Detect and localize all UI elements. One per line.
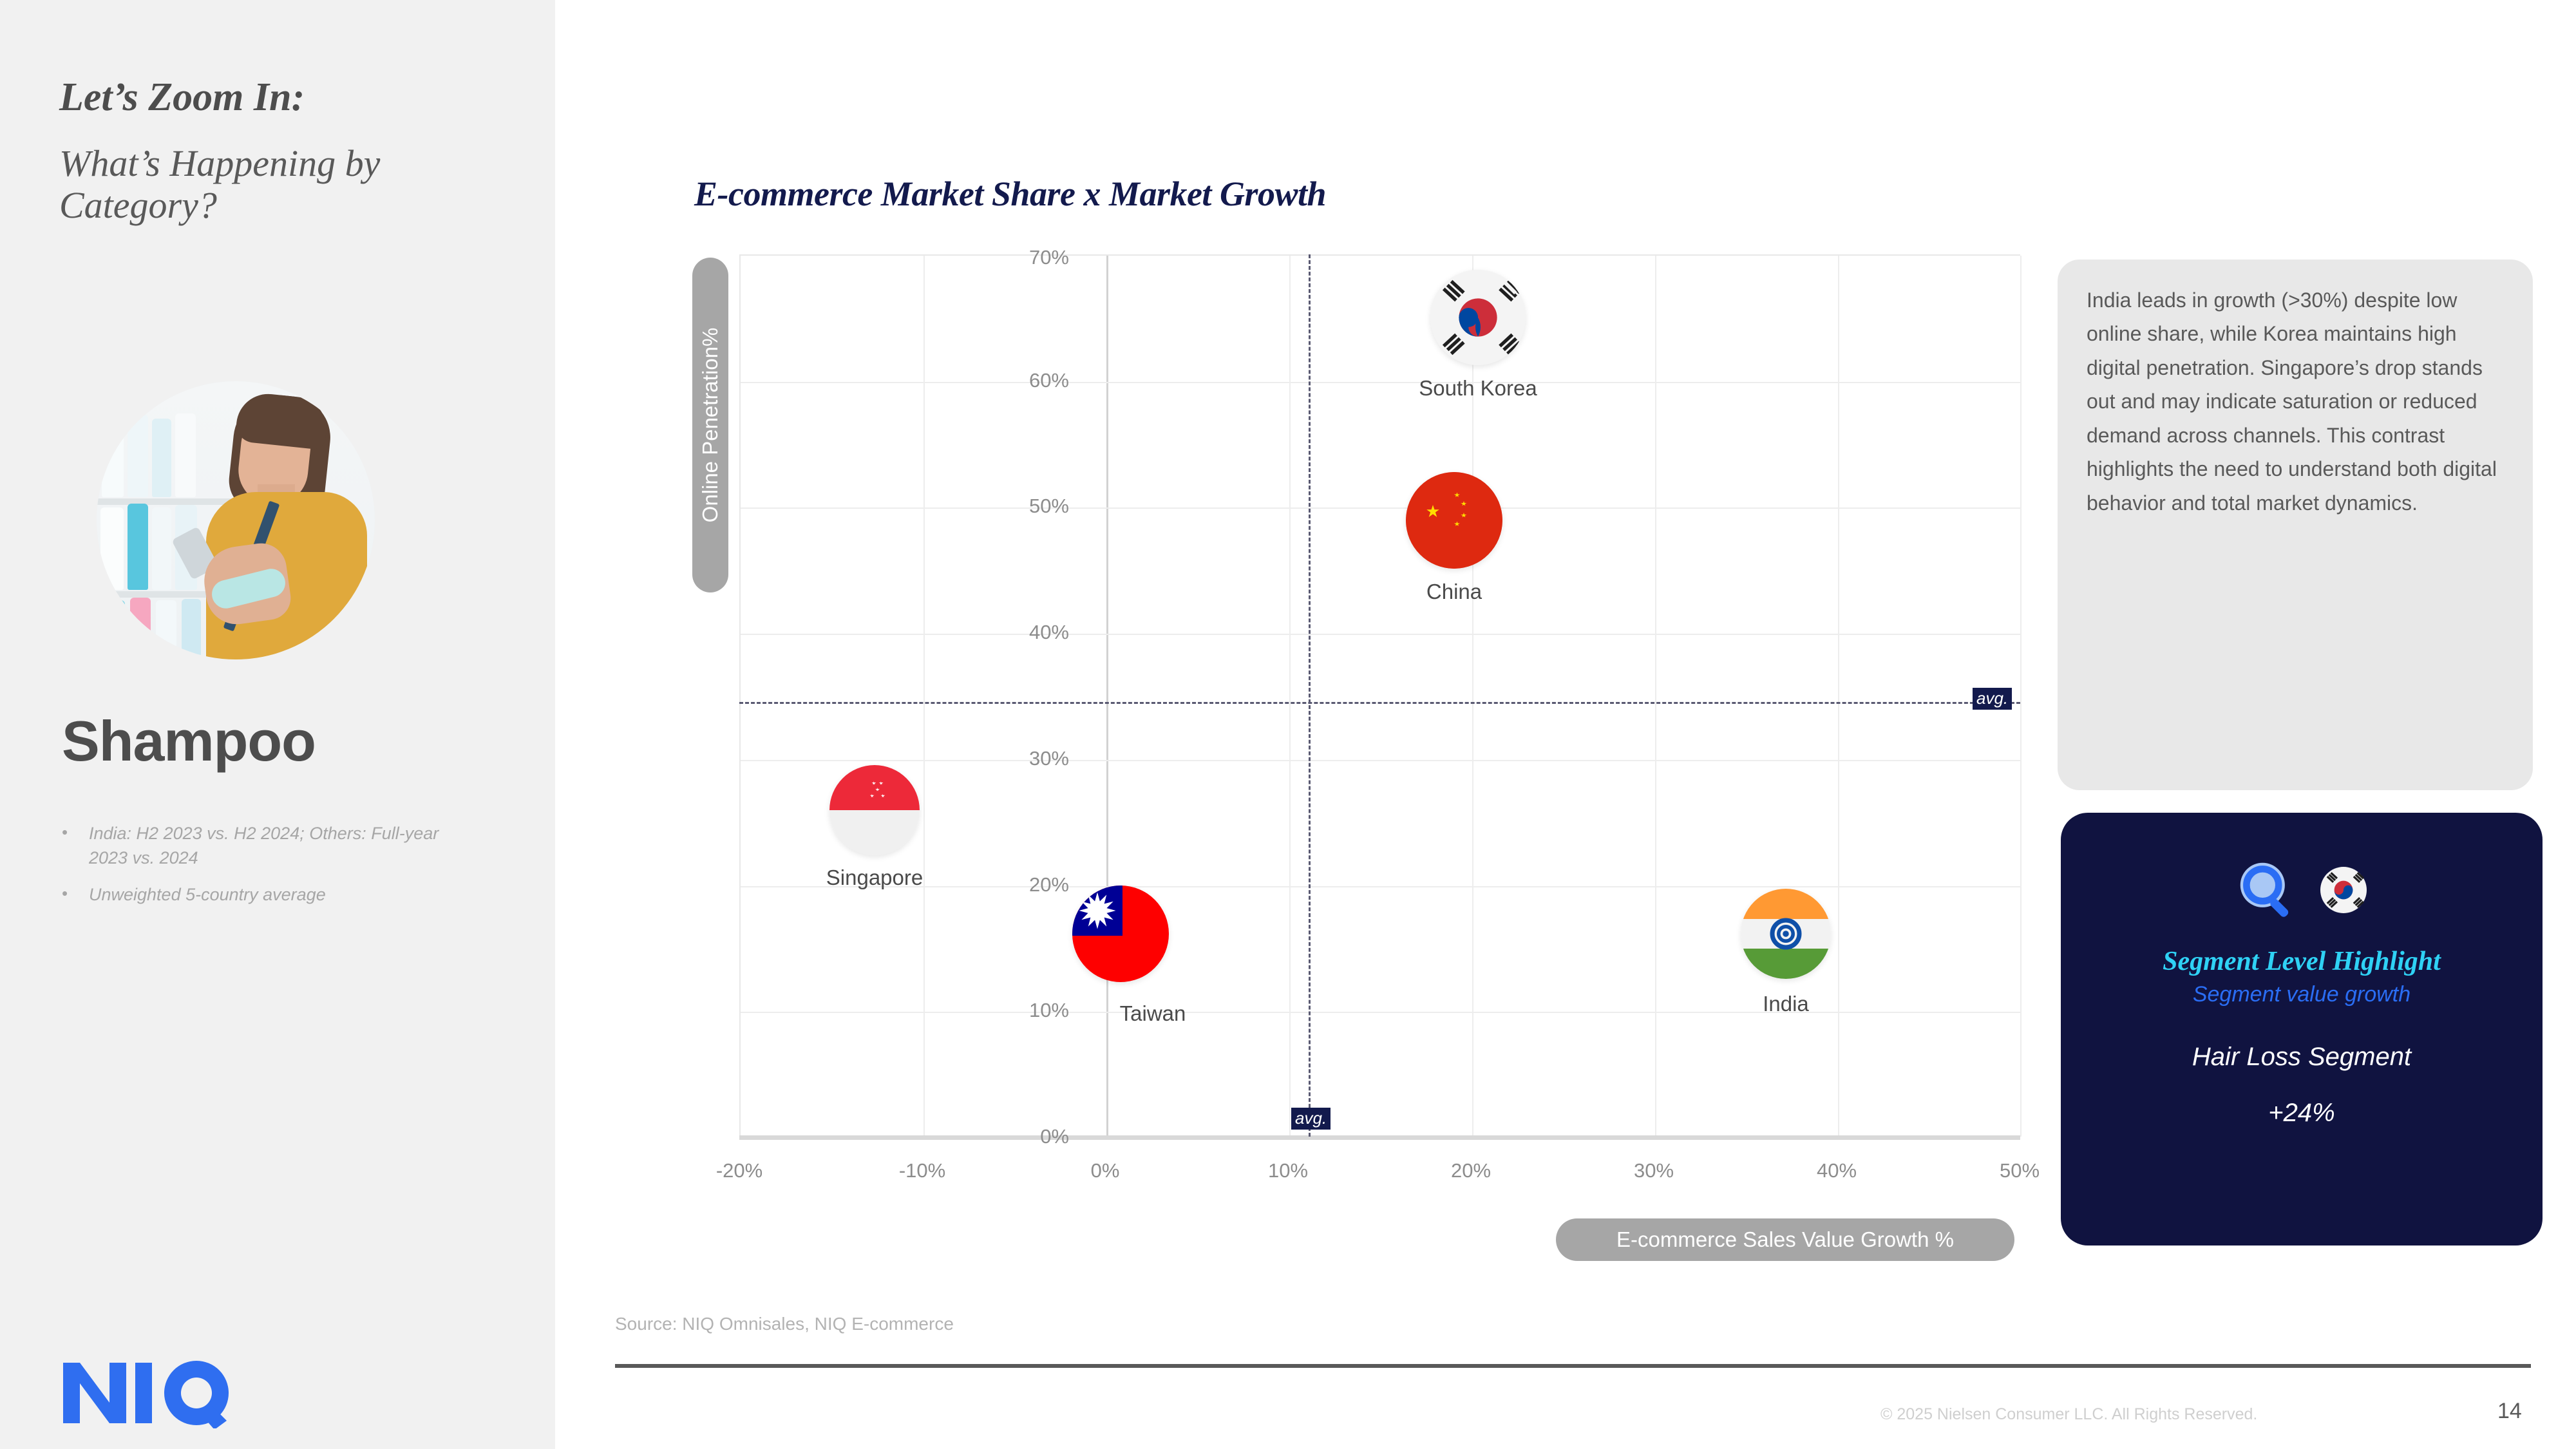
avg-line-vertical <box>1309 254 1311 1137</box>
avg-line-horizontal <box>739 702 2020 704</box>
gridline-horizontal <box>741 634 2020 635</box>
x-tick-label: -20% <box>675 1159 804 1182</box>
data-point-south-korea[interactable] <box>1430 270 1526 365</box>
avg-label-vertical: avg. <box>1291 1108 1331 1130</box>
y-tick-label: 60% <box>972 369 1069 392</box>
data-point-label: China <box>1426 580 1482 604</box>
sidebar-notes: • India: H2 2023 vs. H2 2024; Others: Fu… <box>62 821 480 918</box>
x-tick-label: 10% <box>1224 1159 1352 1182</box>
page-number: 14 <box>2497 1399 2522 1424</box>
note-text: Unweighted 5-country average <box>89 882 480 907</box>
data-point-label: India <box>1763 992 1809 1016</box>
data-point-label: Singapore <box>826 866 923 890</box>
gridline-vertical <box>1838 256 1839 1137</box>
y-tick-label: 70% <box>972 246 1069 269</box>
y-tick-label: 30% <box>972 747 1069 770</box>
data-point-china[interactable] <box>1406 472 1502 569</box>
axis-zero-line <box>1106 256 1108 1137</box>
copyright-note: © 2025 Nielsen Consumer LLC. All Rights … <box>1880 1405 2257 1424</box>
x-tick-label: -10% <box>858 1159 987 1182</box>
south-korea-flag-icon <box>2320 867 2367 916</box>
gridline-horizontal <box>741 1012 2020 1013</box>
page-title: Shampoo <box>62 708 316 774</box>
data-point-india[interactable] <box>1741 889 1831 979</box>
data-point-taiwan[interactable] <box>1072 885 1169 982</box>
x-tick-label: 0% <box>1041 1159 1170 1182</box>
data-point-singapore[interactable] <box>829 765 920 855</box>
avg-label-horizontal: avg. <box>1973 688 2012 710</box>
sidebar-subtitle: What’s Happening by Category? <box>59 143 504 227</box>
gridline-horizontal <box>741 507 2020 509</box>
y-tick-label: 0% <box>972 1125 1069 1148</box>
note-text: India: H2 2023 vs. H2 2024; Others: Full… <box>89 821 480 871</box>
note-item: • India: H2 2023 vs. H2 2024; Others: Fu… <box>62 821 480 871</box>
bullet-glyph: • <box>62 882 89 907</box>
niq-logo <box>59 1358 233 1428</box>
sidebar-title: Let’s Zoom In: <box>59 77 510 118</box>
x-tick-label: 30% <box>1589 1159 1718 1182</box>
left-sidebar: Let’s Zoom In: What’s Happening by Categ… <box>0 0 555 1449</box>
x-axis-title-label: E-commerce Sales Value Growth % <box>1616 1227 1954 1252</box>
y-tick-label: 20% <box>972 873 1069 896</box>
highlight-value: +24% <box>2268 1099 2334 1128</box>
y-tick-label: 40% <box>972 621 1069 644</box>
data-point-label: Taiwan <box>1120 1001 1186 1026</box>
category-photo <box>97 381 375 659</box>
y-tick-label: 50% <box>972 495 1069 518</box>
y-axis-title: Online Penetration% <box>692 258 728 592</box>
gridline-vertical <box>1289 256 1291 1137</box>
highlight-segment-name: Hair Loss Segment <box>2192 1041 2411 1073</box>
gridline-vertical <box>2020 256 2022 1137</box>
data-point-label: South Korea <box>1419 376 1537 401</box>
segment-highlight-card: Segment Level Highlight Segment value gr… <box>2061 813 2543 1245</box>
insight-text: India leads in growth (>30%) despite low… <box>2087 283 2505 520</box>
gridline-horizontal <box>741 382 2020 383</box>
gridline-vertical <box>923 256 925 1137</box>
bullet-glyph: • <box>62 821 89 871</box>
footer-divider <box>615 1364 2531 1368</box>
gridline-horizontal <box>741 760 2020 761</box>
chart-title: E-commerce Market Share x Market Growth <box>694 174 1326 214</box>
highlight-title: Segment Level Highlight <box>2163 946 2441 977</box>
highlight-icons <box>2237 859 2367 924</box>
note-item: • Unweighted 5-country average <box>62 882 480 907</box>
y-axis-title-label: Online Penetration% <box>698 328 723 523</box>
source-note: Source: NIQ Omnisales, NIQ E-commerce <box>615 1314 954 1334</box>
y-tick-label: 10% <box>972 999 1069 1022</box>
magnifier-icon <box>2237 859 2298 924</box>
x-tick-label: 20% <box>1406 1159 1535 1182</box>
gridline-vertical <box>1655 256 1656 1137</box>
gridline-horizontal <box>741 886 2020 887</box>
x-axis-title: E-commerce Sales Value Growth % <box>1556 1218 2014 1261</box>
x-axis-line <box>739 1135 2020 1140</box>
x-tick-label: 40% <box>1772 1159 1901 1182</box>
highlight-subtitle: Segment value growth <box>2193 982 2410 1007</box>
scatter-plot-area <box>739 254 2020 1137</box>
